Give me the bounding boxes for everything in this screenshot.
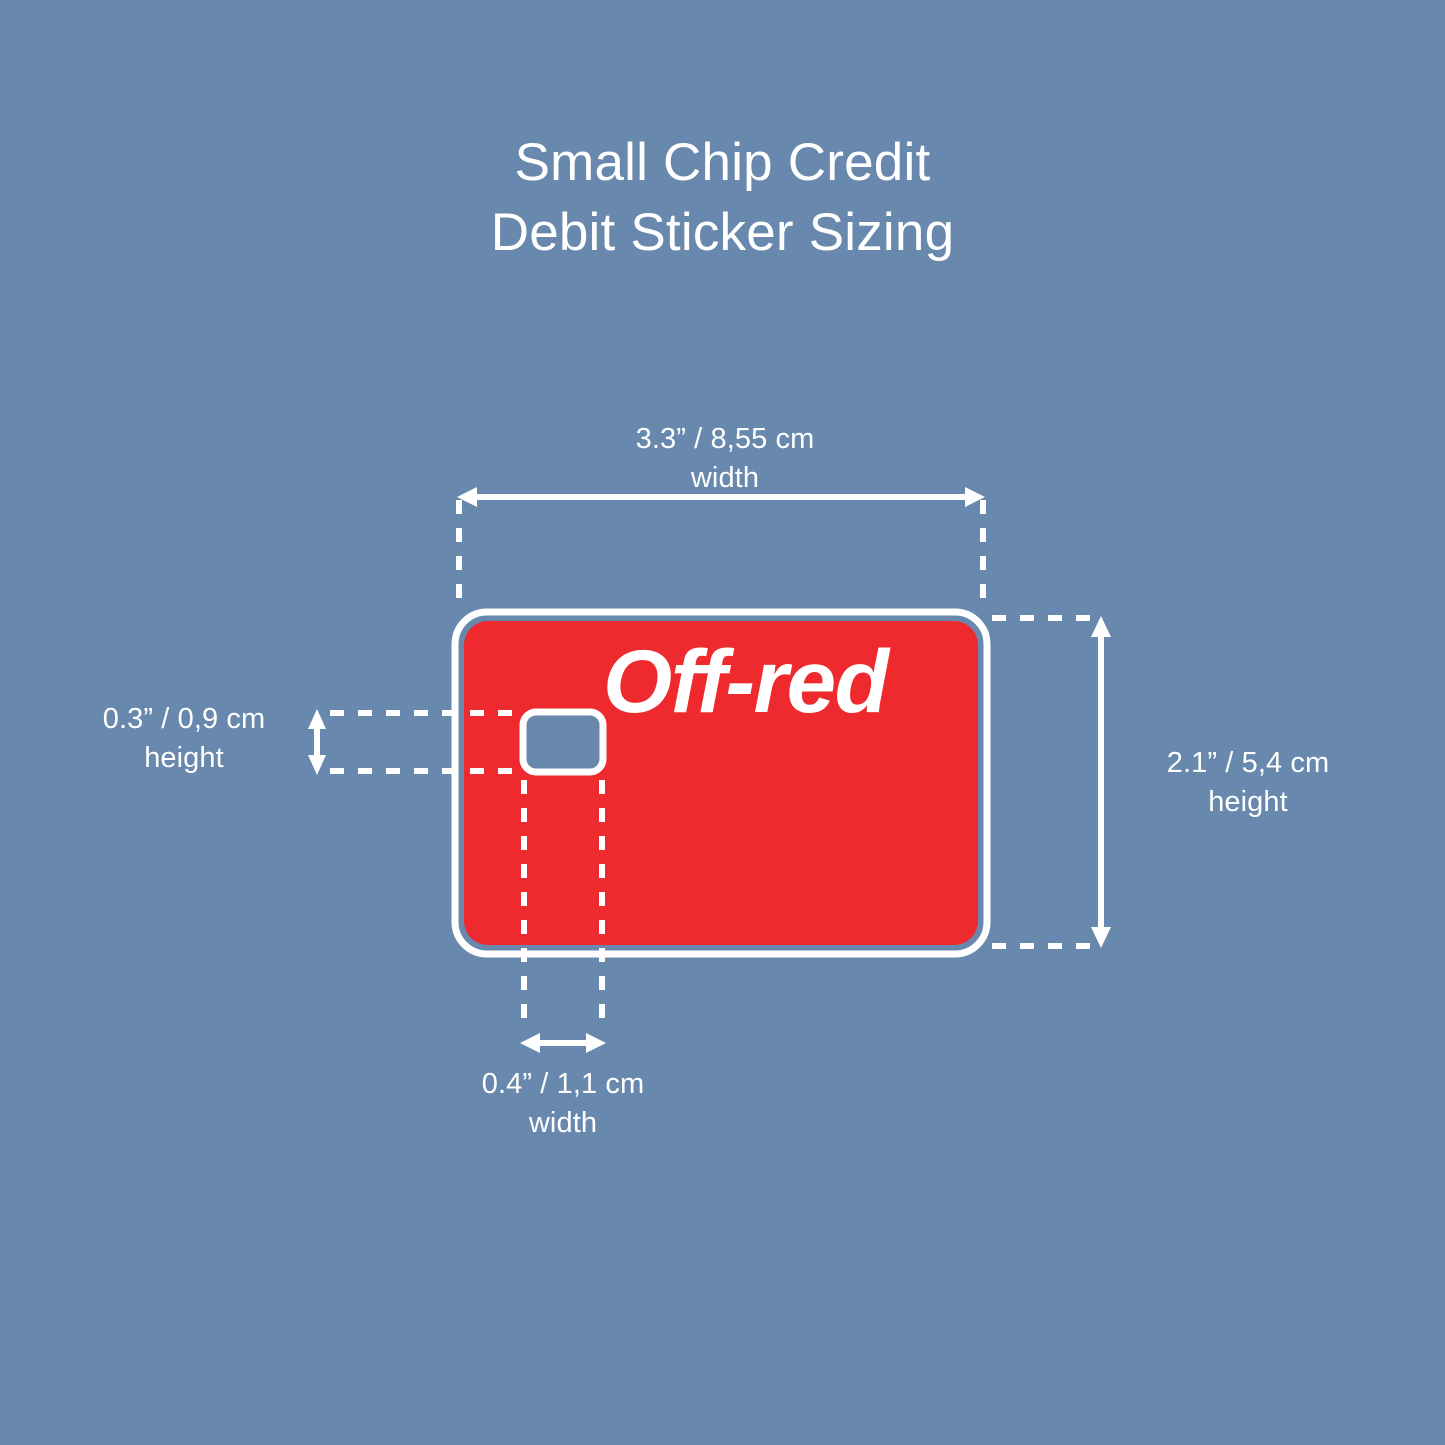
card-height-label: 2.1” / 5,4 cm height: [1118, 744, 1378, 821]
chip-height-arrowhead-top: [308, 709, 326, 729]
card-height-arrowhead-bottom: [1091, 927, 1111, 948]
chip-width-label: 0.4” / 1,1 cm width: [413, 1065, 713, 1142]
card-height-arrowhead-top: [1091, 616, 1111, 637]
card-brand-logo: Off-red: [603, 637, 888, 726]
sizing-diagram-canvas: Small Chip Credit Debit Sticker Sizing: [0, 0, 1445, 1445]
chip-height-label: 0.3” / 0,9 cm height: [60, 700, 308, 777]
chip-height-arrowhead-bottom: [308, 755, 326, 775]
chip-cutout: [523, 712, 603, 772]
card-width-label: 3.3” / 8,55 cm width: [523, 420, 927, 497]
chip-width-arrowhead-right: [586, 1033, 606, 1053]
chip-width-arrowhead-left: [520, 1033, 540, 1053]
card-width-dimension-group: [457, 487, 985, 608]
card-height-dimension-group: [992, 616, 1111, 948]
